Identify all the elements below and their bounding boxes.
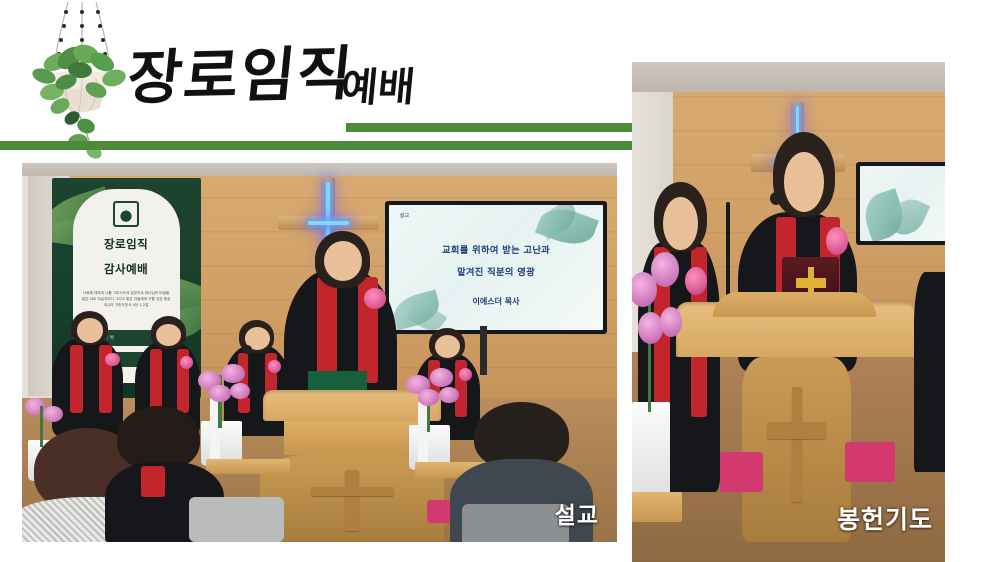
microphone-head-right bbox=[770, 192, 783, 205]
screen-title-line2: 맡겨진 직분의 영광 bbox=[389, 264, 603, 278]
photo-sermon[interactable]: 장로임직 감사예배 너희에 대하여 나를 그리스도의 일꾼이요 하나님의 비밀을… bbox=[22, 163, 617, 542]
chair-back-right bbox=[462, 504, 569, 542]
banner-title-line1: 장로임직 bbox=[73, 236, 180, 252]
floor-cushion-right-a bbox=[720, 452, 764, 492]
green-rule-bottom bbox=[0, 141, 633, 150]
page-title: 장로임직 bbox=[125, 44, 357, 108]
screen-title-line1: 교회를 위하여 받는 고난과 bbox=[389, 242, 603, 256]
side-screen bbox=[856, 162, 945, 245]
photo-caption-offering-prayer: 봉헌기도 bbox=[837, 500, 933, 536]
banner-verse: 너희에 대하여 나를 그리스도의 일꾼이요 하나님의 비밀을 맡은 자로 여길지… bbox=[81, 290, 171, 309]
hanging-plant-icon bbox=[22, 0, 142, 160]
pulpit-lip-right bbox=[713, 292, 876, 317]
open-bible bbox=[308, 371, 368, 390]
ceiling-right bbox=[632, 62, 945, 92]
banner-title-line2: 감사예배 bbox=[73, 261, 180, 277]
chair-back bbox=[189, 497, 284, 542]
page-subtitle: 예배 bbox=[339, 68, 416, 109]
side-table-right bbox=[632, 492, 682, 522]
green-rule-top bbox=[346, 123, 633, 132]
screen-tag: 설교 bbox=[400, 212, 410, 219]
bench-left bbox=[206, 459, 289, 474]
photo-caption-sermon: 설교 bbox=[555, 496, 599, 530]
partial-figure-right bbox=[914, 272, 945, 472]
ceiling bbox=[22, 163, 617, 176]
presentation-slide: 장로임직 예배 장로임직 감사예배 너희에 대하여 나를 그리스도의 일꾼이요 … bbox=[0, 0, 1000, 562]
tv-cable bbox=[480, 326, 487, 375]
screen-speaker-name: 이에스더 목사 bbox=[389, 296, 603, 307]
pulpit-cross-horizontal-right bbox=[767, 422, 826, 439]
pulpit-neck bbox=[284, 421, 421, 455]
pulpit-cross-horizontal bbox=[311, 487, 394, 496]
presentation-screen: 설교 교회를 위하여 받는 고난과 맡겨진 직분의 영광 이에스더 목사 bbox=[385, 201, 607, 334]
pulpit-cross-vertical bbox=[345, 470, 359, 531]
pulpit-top bbox=[263, 390, 442, 420]
pulpit-cross-vertical-right bbox=[792, 387, 803, 502]
floor-cushion-right-b bbox=[845, 442, 895, 482]
church-logo-icon bbox=[113, 201, 139, 227]
bible-cross-horizontal bbox=[796, 278, 825, 288]
photo-offering-prayer[interactable]: 봉헌기도 bbox=[632, 62, 945, 562]
